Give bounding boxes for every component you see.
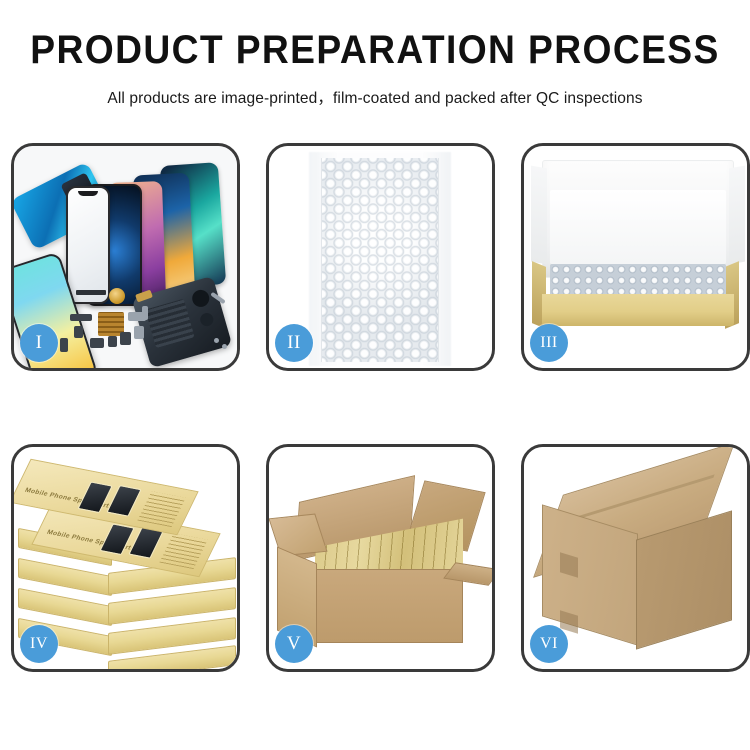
step-badge-3: III bbox=[530, 324, 568, 362]
process-step-panel-2[interactable]: II bbox=[266, 143, 495, 371]
carton-front-panel bbox=[315, 569, 463, 643]
bubble-wrap-sheet bbox=[321, 158, 439, 362]
page-header: PRODUCT PREPARATION PROCESS All products… bbox=[0, 0, 750, 108]
inner-box-front bbox=[542, 294, 734, 326]
process-step-panel-1[interactable]: I bbox=[11, 143, 240, 371]
sealed-carton-photo: VI bbox=[524, 447, 747, 669]
step-badge-1: I bbox=[20, 324, 58, 362]
step-badge-2: II bbox=[275, 324, 313, 362]
bubble-wrap-photo: II bbox=[269, 146, 492, 368]
foam-insert bbox=[550, 190, 726, 264]
carton-filling-photo: V bbox=[269, 447, 492, 669]
page-subtitle: All products are image-printed，film-coat… bbox=[11, 84, 739, 108]
inner-box-photo: III bbox=[524, 146, 747, 368]
process-step-panel-3[interactable]: III bbox=[521, 143, 750, 371]
step-badge-6: VI bbox=[530, 625, 568, 663]
step-badge-5: V bbox=[275, 625, 313, 663]
process-step-panel-4[interactable]: Mobile Phone Spare Parts Mobile Phone Sp… bbox=[11, 444, 240, 672]
process-step-grid: I II III bbox=[11, 143, 739, 672]
step-badge-4: IV bbox=[20, 625, 58, 663]
product-lineup-photo: I bbox=[14, 146, 237, 368]
bubble-wrapped-item bbox=[550, 264, 726, 296]
process-step-panel-5[interactable]: V bbox=[266, 444, 495, 672]
process-step-panel-6[interactable]: VI bbox=[521, 444, 750, 672]
page-title: PRODUCT PREPARATION PROCESS bbox=[26, 30, 724, 70]
screen-protector bbox=[66, 186, 110, 304]
boxed-stack-photo: Mobile Phone Spare Parts Mobile Phone Sp… bbox=[14, 447, 237, 669]
